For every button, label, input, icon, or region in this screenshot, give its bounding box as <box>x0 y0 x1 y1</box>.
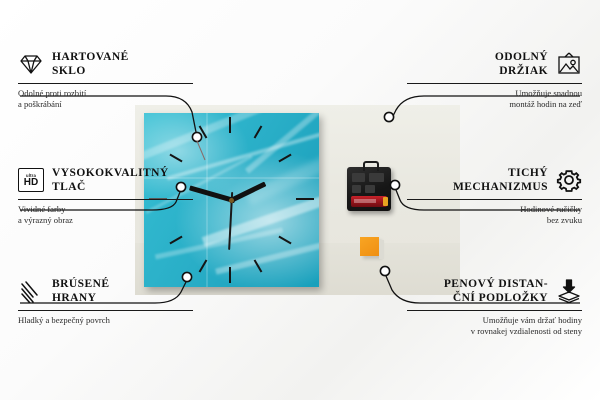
feature-hardened-glass: HARTOVANÉ SKLO Odolné proti rozbití a po… <box>18 50 193 110</box>
dial-tick <box>278 154 291 163</box>
feature-header: HARTOVANÉ SKLO <box>18 50 193 78</box>
feature-header: BRÚSENÉ HRANY <box>18 277 193 305</box>
battery-label <box>354 199 376 203</box>
product-infographic: HARTOVANÉ SKLO Odolné proti rozbití a po… <box>0 0 600 400</box>
dial-tick <box>229 117 231 133</box>
feature-header: TICHÝ MECHANIZMUS <box>407 166 582 194</box>
diamond-icon <box>18 52 44 76</box>
feature-title: HARTOVANÉ SKLO <box>52 50 129 78</box>
divider <box>407 83 582 84</box>
divider <box>407 199 582 200</box>
polished-edges-icon <box>18 279 44 303</box>
mechanism-detail <box>365 185 375 193</box>
dial-tick <box>229 267 231 283</box>
feature-header: PENOVÝ DISTAN- ČNÍ PODLOŽKY <box>407 277 582 305</box>
feature-title: VYSOKOKVALITNÝ TLAČ <box>52 166 169 194</box>
dial-tick <box>169 154 182 163</box>
feature-header: ultra HD VYSOKOKVALITNÝ TLAČ <box>18 166 193 194</box>
foam-spacer-side <box>379 240 384 259</box>
battery-terminal <box>383 197 388 206</box>
foam-spacer-pad <box>360 237 379 256</box>
mechanism-detail <box>352 173 365 182</box>
feature-durable-hanger: ODOLNÝ DRŽIAK Umožňuje snadnou montáž ho… <box>407 50 582 110</box>
divider <box>18 83 193 84</box>
mechanism-hook <box>363 161 379 171</box>
gear-icon <box>556 168 582 192</box>
feature-title: PENOVÝ DISTAN- ČNÍ PODLOŽKY <box>444 277 548 305</box>
battery <box>351 196 387 207</box>
feature-title: ODOLNÝ DRŽIAK <box>495 50 548 78</box>
mechanism-detail <box>369 173 384 182</box>
feature-high-quality-print: ultra HD VYSOKOKVALITNÝ TLAČ Vividné far… <box>18 166 193 226</box>
dial-tick <box>254 125 263 138</box>
clock-center-cap <box>229 198 234 203</box>
feature-silent-mechanism: TICHÝ MECHANIZMUS Hodinové ručičky bez z… <box>407 166 582 226</box>
divider <box>18 199 193 200</box>
ultra-hd-badge-icon: ultra HD <box>18 168 44 192</box>
mechanism-detail <box>352 185 361 193</box>
feature-title: TICHÝ MECHANIZMUS <box>453 166 548 194</box>
feature-foam-spacers: PENOVÝ DISTAN- ČNÍ PODLOŽKY Umožňuje vám… <box>407 277 582 337</box>
divider <box>18 310 193 311</box>
hd-main-label: HD <box>24 178 38 188</box>
feature-polished-edges: BRÚSENÉ HRANY Hladký a bezpečný povrch <box>18 277 193 326</box>
dial-tick <box>296 198 314 200</box>
foam-spacer-icon <box>556 279 582 303</box>
feature-header: ODOLNÝ DRŽIAK <box>407 50 582 78</box>
dial-tick <box>278 236 291 245</box>
dial-tick <box>169 236 182 245</box>
divider <box>407 310 582 311</box>
feature-title: BRÚSENÉ HRANY <box>52 277 109 305</box>
picture-hanger-icon <box>556 52 582 76</box>
clock-mechanism <box>347 167 391 211</box>
